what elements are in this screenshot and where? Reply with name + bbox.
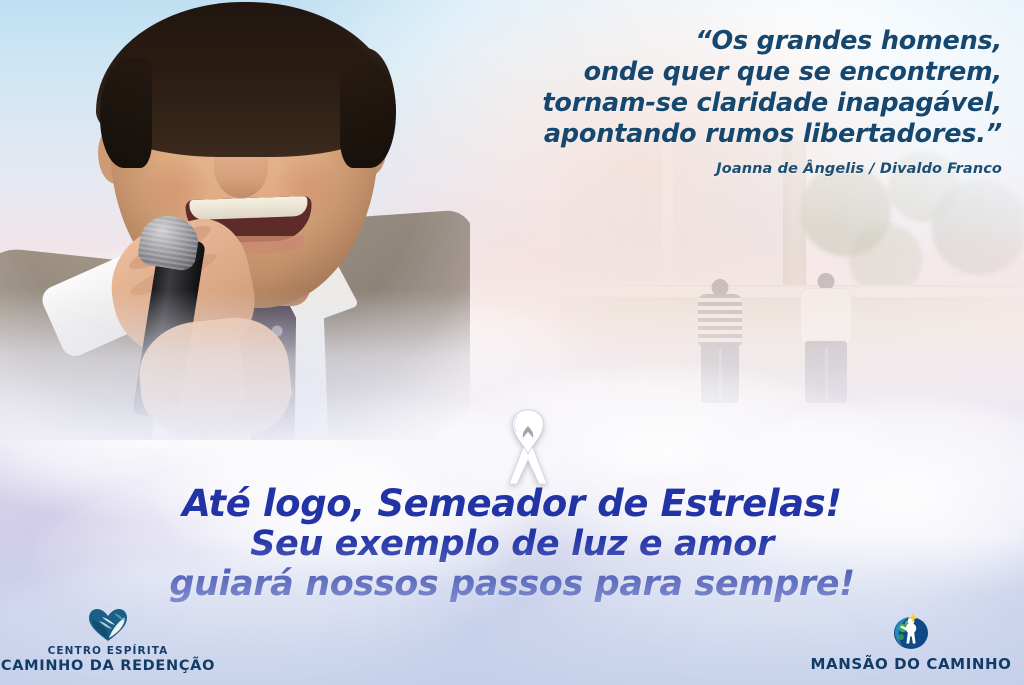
photo-fade-overlay xyxy=(560,140,1024,430)
white-awareness-ribbon-icon xyxy=(497,408,559,484)
portrait-teeth xyxy=(189,196,308,220)
quote-line-3: tornam-se claridade inapagável, xyxy=(442,88,1002,119)
hands-heart-logo-icon xyxy=(88,608,128,642)
headline-line-1: Até logo, Semeador de Estrelas! xyxy=(0,484,1024,524)
quote-attribution: Joanna de Ângelis / Divaldo Franco xyxy=(442,161,1002,177)
quote-line-1: “Os grandes homens, xyxy=(442,26,1002,57)
logo-left-line-1: CENTRO ESPÍRITA xyxy=(48,645,169,658)
logo-mansao-do-caminho[interactable]: MANSÃO DO CAMINHO xyxy=(806,610,1016,673)
portrait-photo xyxy=(0,0,470,440)
portrait-hair xyxy=(96,2,396,157)
logo-centro-espirita[interactable]: CENTRO ESPÍRITA CAMINHO DA REDENÇÃO xyxy=(8,608,208,675)
globe-figure-star-logo-icon xyxy=(889,610,933,652)
quote-line-2: onde quer que se encontrem, xyxy=(442,57,1002,88)
background-photo xyxy=(560,140,1024,430)
logo-left-line-2: CAMINHO DA REDENÇÃO xyxy=(1,658,215,675)
logo-right-line-1: MANSÃO DO CAMINHO xyxy=(810,655,1011,673)
quote-block: “Os grandes homens, onde quer que se enc… xyxy=(442,26,1002,177)
memorial-banner: “Os grandes homens, onde quer que se enc… xyxy=(0,0,1024,685)
portrait-fade-overlay xyxy=(0,290,470,440)
quote-line-4: apontando rumos libertadores.” xyxy=(442,119,1002,150)
